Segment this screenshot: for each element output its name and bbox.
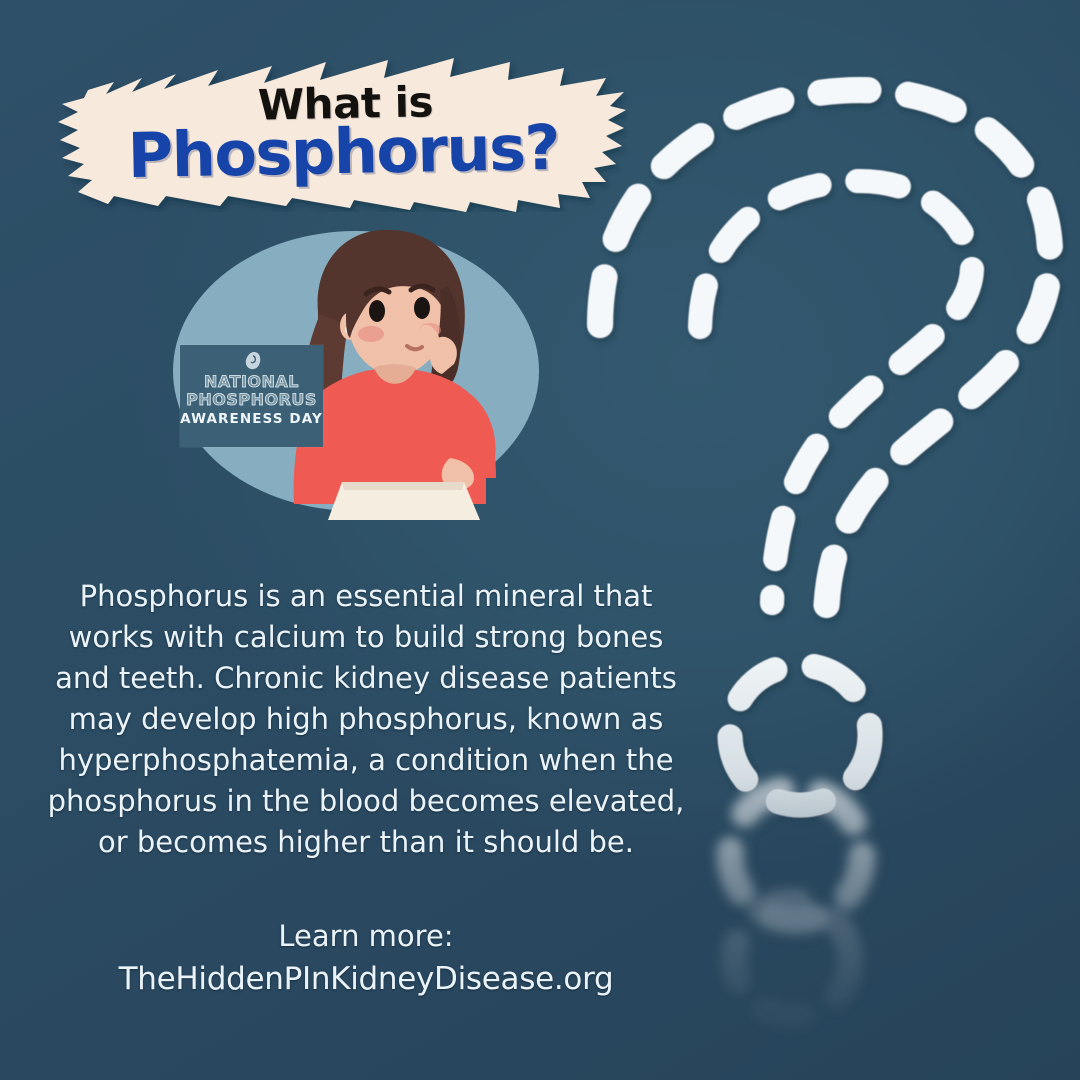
body-paragraph: Phosphorus is an essential mineral that …: [46, 576, 686, 863]
learn-more-block: Learn more: TheHiddenPInKidneyDisease.or…: [46, 915, 686, 1001]
kidney-icon: [242, 350, 262, 372]
national-phosphorus-awareness-day-badge: NATIONAL PHOSPHORUS AWARENESS DAY: [180, 345, 323, 447]
badge-line-2: PHOSPHORUS: [186, 391, 317, 409]
poster-canvas: What is Phosphorus?: [0, 0, 1080, 1080]
question-mark-decoration: [560, 55, 1080, 1055]
title-line-2: Phosphorus?: [127, 115, 559, 188]
website-url[interactable]: TheHiddenPInKidneyDisease.org: [46, 957, 686, 1001]
badge-line-3: AWARENESS DAY: [180, 411, 323, 427]
learn-more-label: Learn more:: [46, 915, 686, 957]
badge-line-1: NATIONAL: [204, 373, 299, 391]
title-banner: What is Phosphorus?: [58, 56, 628, 212]
